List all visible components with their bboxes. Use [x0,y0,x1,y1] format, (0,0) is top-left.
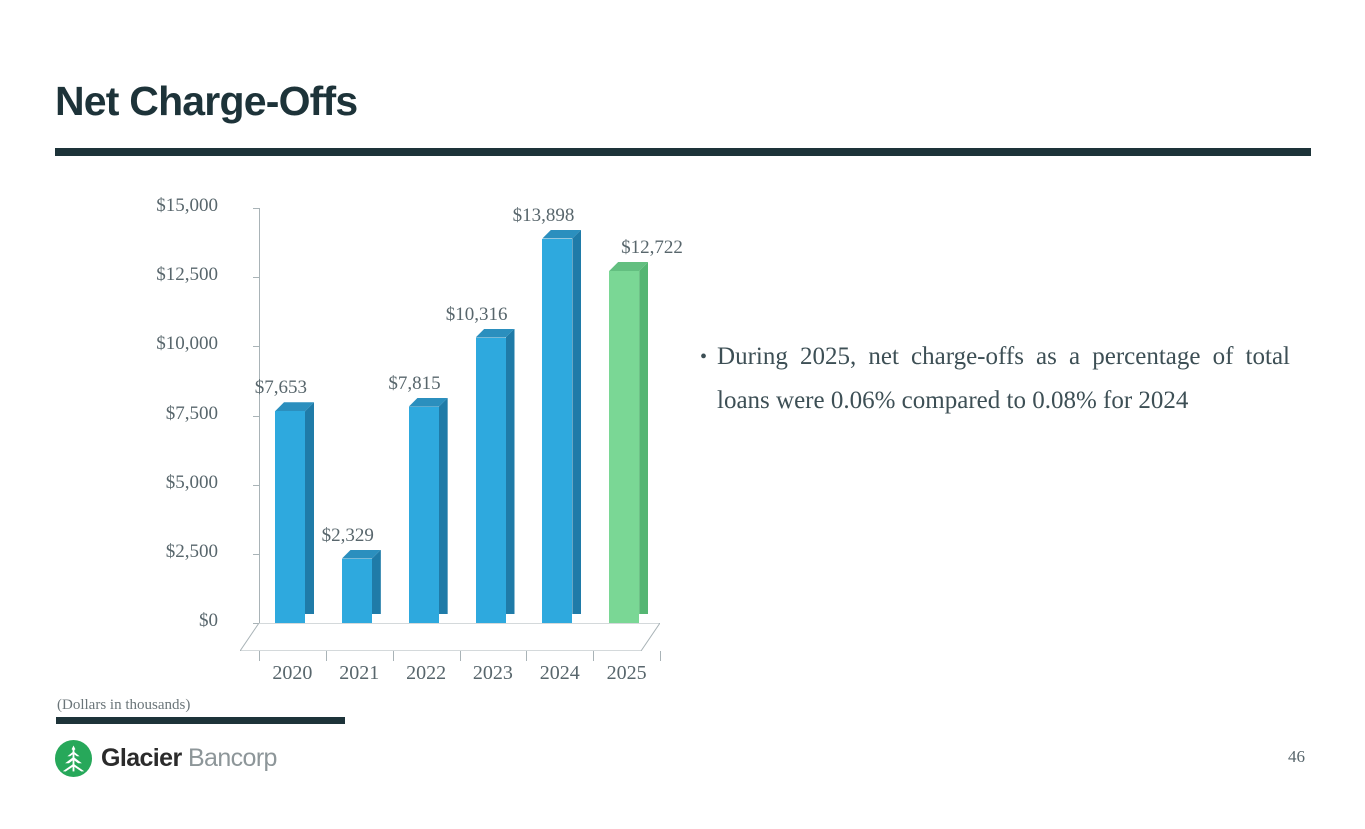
bar-group: $10,316 [460,208,527,623]
bar-group: $12,722 [593,208,660,623]
bar-side-face [506,329,515,614]
bar-front-face [609,271,639,623]
bar-side-face [439,398,448,614]
y-axis-tick-label: $12,500 [108,264,218,286]
bar-side-face [305,402,314,614]
bar-2022[interactable] [409,407,439,623]
body-bullet-list: • During 2025, net charge-offs as a perc… [700,335,1290,423]
logo-word-glacier: Glacier [101,744,182,772]
x-axis-tick-mark-origin [259,651,260,661]
bar-2021[interactable] [342,559,372,623]
bar-group: $13,898 [526,208,593,623]
chart-floor-plane [240,623,660,651]
bar-front-face [476,338,506,623]
logo-word-bancorp: Bancorp [188,744,277,772]
bar-side-face [572,230,581,615]
x-axis-tick-mark [660,651,661,661]
bar-front-face [409,407,439,623]
bar-2023[interactable] [476,338,506,623]
y-axis-tick-label: $5,000 [108,472,218,494]
logo-wordmark: Glacier Bancorp [101,744,277,773]
footnote-units: (Dollars in thousands) [57,697,190,714]
footer-divider [56,717,345,724]
x-axis-tick-mark [526,651,527,661]
net-charge-offs-bar-chart: $0$2,500$5,000$7,500$10,000$12,500$15,00… [140,190,680,700]
bar-2024[interactable] [542,239,572,624]
y-axis-tick-label: $10,000 [108,333,218,355]
bar-2020[interactable] [275,411,305,623]
x-axis-tick-mark [593,651,594,661]
bar-side-face [639,262,648,614]
plot-bars: $7,653$2,329$7,815$10,316$13,898$12,722 [259,208,660,623]
bar-front-face [342,559,372,623]
bullet-text: During 2025, net charge-offs as a percen… [717,335,1290,423]
bar-group: $7,815 [393,208,460,623]
bar-value-label: $10,316 [446,304,508,326]
bar-front-face [275,411,305,623]
y-axis-tick-label: $2,500 [108,541,218,563]
y-axis-tick-label: $0 [108,610,218,632]
x-axis-tick-mark [460,651,461,661]
x-axis-tick-mark [393,651,394,661]
x-axis-tick-mark [326,651,327,661]
bar-side-face [372,550,381,614]
bar-group: $2,329 [326,208,393,623]
y-axis-tick-label: $7,500 [108,403,218,425]
bar-front-face [542,239,572,624]
glacier-bancorp-logo: Glacier Bancorp [55,740,277,777]
y-axis-tick-label: $15,000 [108,195,218,217]
x-axis-tick-label-2025: 2025 [587,662,667,685]
bar-value-label: $2,329 [322,525,374,547]
pine-tree-icon [55,740,92,777]
bar-value-label: $13,898 [513,205,575,227]
bar-value-label: $7,653 [255,377,307,399]
bar-2025[interactable] [609,271,639,623]
list-item: • During 2025, net charge-offs as a perc… [700,335,1290,423]
page-title: Net Charge-Offs [55,78,357,125]
bar-group: $7,653 [259,208,326,623]
title-divider [55,148,1311,156]
page-number: 46 [1288,747,1305,767]
bar-value-label: $7,815 [388,373,440,395]
bullet-marker-icon: • [700,335,707,379]
bar-value-label: $12,722 [621,237,683,259]
